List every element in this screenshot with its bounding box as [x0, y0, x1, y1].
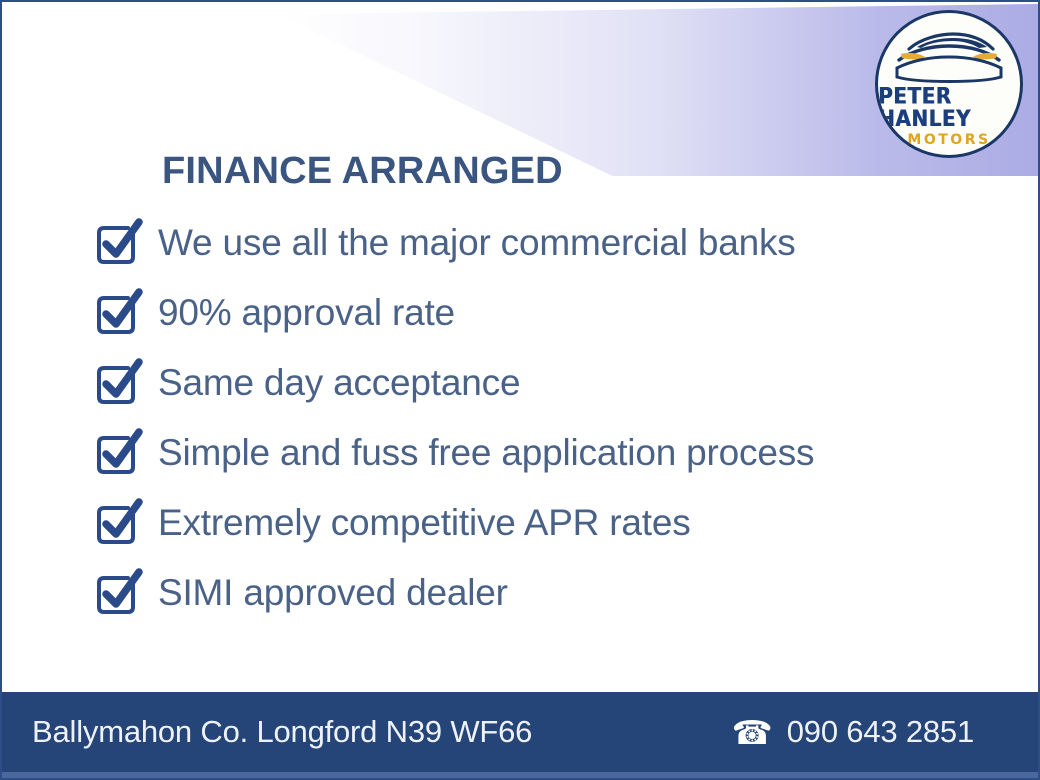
list-item: SIMI approved dealer: [92, 558, 972, 628]
dealer-phone-group[interactable]: ☎ 090 643 2851: [732, 714, 1008, 750]
list-item: We use all the major commercial banks: [92, 208, 972, 278]
dealer-phone-number[interactable]: 090 643 2851: [787, 714, 974, 750]
list-item-label: Same day acceptance: [158, 362, 520, 404]
checkbox-checked-icon: [92, 217, 144, 269]
list-item-label: Simple and fuss free application process: [158, 432, 814, 474]
list-item: 90% approval rate: [92, 278, 972, 348]
dealer-address: Ballymahon Co. Longford N39 WF66: [32, 714, 532, 750]
advert-canvas: PETER HANLEY MOTORS FINANCE ARRANGED We …: [0, 0, 1040, 780]
list-item-label: 90% approval rate: [158, 292, 455, 334]
checkbox-checked-icon: [92, 567, 144, 619]
list-item: Same day acceptance: [92, 348, 972, 418]
logo-brand-name: PETER HANLEY: [878, 85, 1020, 130]
contact-footer-bar: Ballymahon Co. Longford N39 WF66 ☎ 090 6…: [2, 692, 1038, 772]
car-front-icon: [887, 27, 1011, 85]
checkbox-checked-icon: [92, 287, 144, 339]
list-item-label: Extremely competitive APR rates: [158, 502, 691, 544]
checkbox-checked-icon: [92, 357, 144, 409]
list-item: Simple and fuss free application process: [92, 418, 972, 488]
list-item-label: SIMI approved dealer: [158, 572, 508, 614]
checkbox-checked-icon: [92, 497, 144, 549]
checkbox-checked-icon: [92, 427, 144, 479]
brand-logo-badge: PETER HANLEY MOTORS: [875, 10, 1023, 158]
finance-feature-list: We use all the major commercial banks 90…: [92, 208, 972, 628]
page-title: FINANCE ARRANGED: [162, 150, 563, 193]
list-item: Extremely competitive APR rates: [92, 488, 972, 558]
telephone-icon: ☎: [732, 716, 773, 749]
list-item-label: We use all the major commercial banks: [158, 222, 796, 264]
logo-brand-sub: MOTORS: [907, 133, 990, 147]
footer-accent-strip: [2, 772, 1038, 778]
